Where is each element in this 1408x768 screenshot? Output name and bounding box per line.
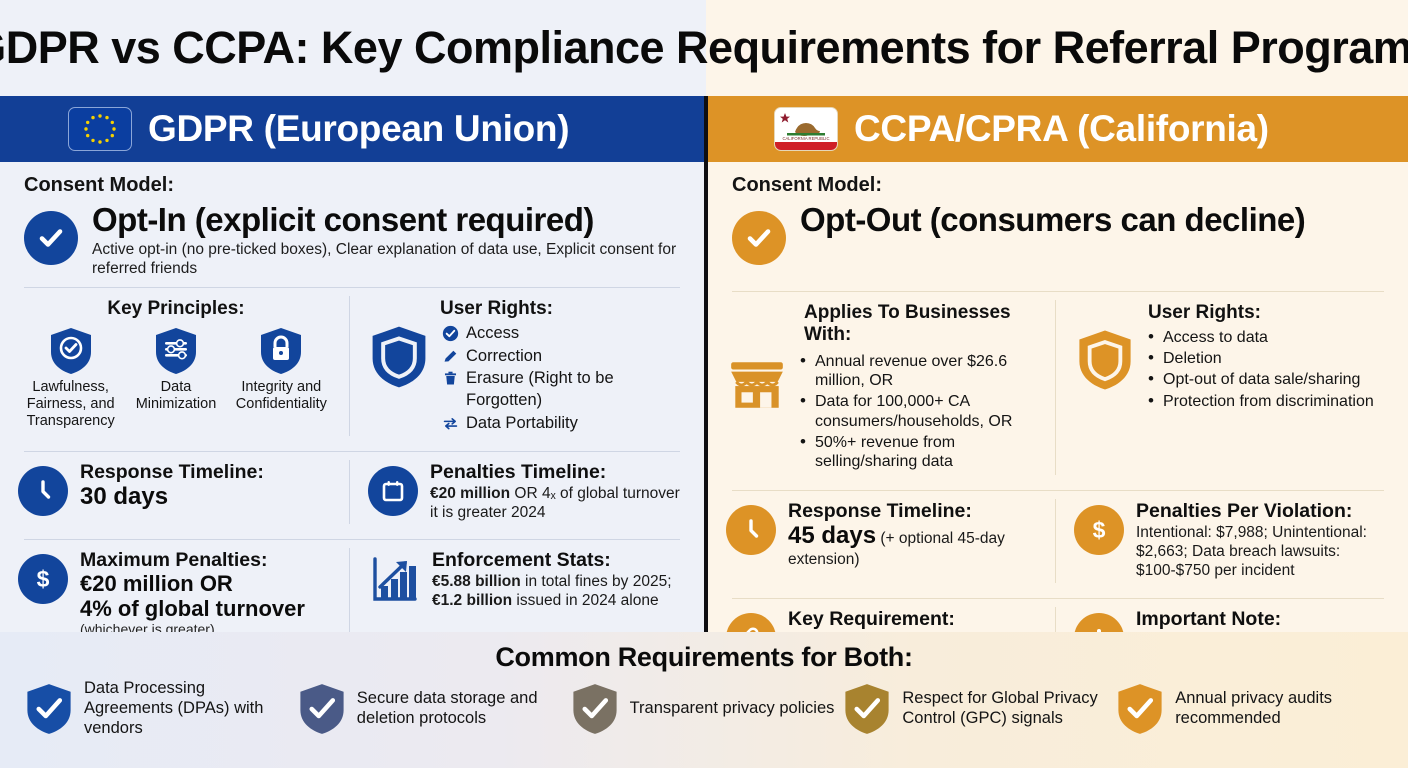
shield-check-icon — [570, 682, 620, 736]
ccpa-penalties-cell: $ Penalties Per Violation: Intentional: … — [1056, 491, 1408, 588]
common-requirement-item: Data Processing Agreements (DPAs) with v… — [24, 679, 293, 738]
gdpr-enforcement-body: €5.88 billion in total fines by 2025; €1… — [432, 572, 684, 610]
gdpr-enforcement-title: Enforcement Stats: — [432, 550, 684, 572]
swap-arrows-icon — [442, 415, 459, 432]
gdpr-max-penalties-line1: €20 million OR — [80, 572, 334, 597]
check-circle-icon — [24, 211, 78, 265]
clock-icon — [726, 505, 776, 555]
ccpa-timeline-row: Response Timeline: 45 days (+ optional 4… — [708, 491, 1408, 588]
shield-check-icon — [24, 682, 74, 736]
fine-total: €5.88 billion — [432, 573, 521, 590]
shield-data-icon — [153, 326, 199, 376]
calendar-icon — [368, 466, 418, 516]
right-label: Erasure (Right to be Forgotten) — [466, 367, 684, 412]
penalty-amount: €20 million — [430, 485, 510, 502]
shield-check-icon — [48, 326, 94, 376]
principle-item: Integrity and Confidentiality — [229, 326, 334, 429]
shield-check-icon — [297, 682, 347, 736]
list-item: 50%+ revenue from selling/sharing data — [800, 433, 1040, 471]
list-item: Access — [442, 322, 684, 344]
shield-check-icon — [1115, 682, 1165, 736]
gdpr-key-principles-cell: Key Principles: Lawfulness, Fairness, an… — [0, 288, 350, 441]
common-requirement-item: Secure data storage and deletion protoco… — [297, 679, 566, 738]
ccpa-key-requirement-title: Key Requirement: — [788, 609, 1040, 631]
list-item: Data for 100,000+ CA consumers/household… — [800, 392, 1040, 430]
list-item: Opt-out of data sale/sharing — [1148, 370, 1374, 389]
ccpa-applies-list: Annual revenue over $26.6 million, OR Da… — [800, 352, 1040, 473]
list-item: Deletion — [1148, 349, 1374, 368]
check-circle-icon — [732, 211, 786, 265]
gdpr-principles-heading: Key Principles: — [18, 298, 334, 320]
ccpa-response-value: 45 days — [788, 522, 876, 549]
gdpr-consent-block: Consent Model: Opt-In (explicit consent … — [0, 162, 704, 278]
california-flag-icon: CALIFORNIA REPUBLIC — [774, 107, 838, 151]
gdpr-max-penalties-line2: 4% of global turnover — [80, 597, 334, 622]
list-item: Data Portability — [442, 412, 684, 434]
ccpa-consent-value: Opt-Out (consumers can decline) — [800, 203, 1305, 238]
gdpr-penalties-timeline-body: €20 million OR 4ₓ of global turnover it … — [430, 484, 684, 522]
ccpa-panel: Consent Model: Opt-Out (consumers can de… — [708, 162, 1408, 632]
eu-flag-icon — [68, 107, 132, 151]
fine-2024: €1.2 billion — [432, 592, 512, 609]
common-requirement-label: Respect for Global Privacy Control (GPC)… — [902, 689, 1111, 729]
gdpr-response-timeline-cell: Response Timeline: 30 days — [0, 452, 350, 530]
gdpr-max-penalties-cell: $ Maximum Penalties: €20 million OR 4% o… — [0, 540, 350, 646]
ccpa-penalties-title: Penalties Per Violation: — [1136, 501, 1392, 523]
ccpa-consent-block: Consent Model: Opt-Out (consumers can de… — [708, 162, 1408, 265]
dollar-circle-icon: $ — [1074, 505, 1124, 555]
common-requirement-item: Respect for Global Privacy Control (GPC)… — [842, 679, 1111, 738]
enforcement-mid: in total fines by 2025; — [521, 573, 672, 590]
common-requirement-label: Annual privacy audits recommended — [1175, 689, 1384, 729]
gdpr-rights-list: Access Correction Erasure (Right to be F… — [442, 322, 684, 433]
principle-label: Data Minimization — [123, 379, 228, 413]
svg-text:$: $ — [1093, 517, 1106, 543]
gdpr-enforcement-cell: Enforcement Stats: €5.88 billion in tota… — [350, 540, 700, 646]
gdpr-rights-heading: User Rights: — [368, 298, 684, 320]
principle-label: Integrity and Confidentiality — [229, 379, 334, 413]
check-circle-icon — [442, 325, 459, 342]
gdpr-penalties-timeline-title: Penalties Timeline: — [430, 462, 684, 484]
gdpr-timeline-row: Response Timeline: 30 days Penalties Tim… — [0, 452, 704, 530]
ccpa-penalties-body: Intentional: $7,988; Unintentional: $2,6… — [1136, 523, 1392, 581]
common-requirement-label: Secure data storage and deletion protoco… — [357, 689, 566, 729]
gdpr-header-label: GDPR (European Union) — [148, 108, 569, 150]
gdpr-principles-rights-row: Key Principles: Lawfulness, Fairness, an… — [0, 288, 704, 441]
pencil-icon — [442, 348, 459, 365]
common-requirement-label: Data Processing Agreements (DPAs) with v… — [84, 679, 293, 738]
page-title: GDPR vs CCPA: Key Compliance Requirement… — [0, 22, 1408, 74]
gdpr-penalties-timeline-cell: Penalties Timeline: €20 million OR 4ₓ of… — [350, 452, 700, 530]
common-requirements-section: Common Requirements for Both: Data Proce… — [0, 632, 1408, 768]
ccpa-header-label: CCPA/CPRA (California) — [854, 108, 1269, 150]
principle-label: Lawfulness, Fairness, and Transparency — [18, 379, 123, 429]
common-requirements-heading: Common Requirements for Both: — [0, 632, 1408, 673]
right-label: Data Portability — [466, 412, 578, 434]
ccpa-response-cell: Response Timeline: 45 days (+ optional 4… — [708, 491, 1056, 588]
shield-lock-icon — [258, 326, 304, 376]
shield-icon — [1074, 328, 1136, 392]
ccpa-response-value-row: 45 days (+ optional 45-day extension) — [788, 523, 1040, 569]
bar-chart-up-icon — [368, 554, 420, 606]
ccpa-response-title: Response Timeline: — [788, 501, 1040, 523]
common-requirement-item: Transparent privacy policies — [570, 679, 839, 738]
ccpa-rights-list: Access to data Deletion Opt-out of data … — [1148, 328, 1374, 413]
gdpr-panel: Consent Model: Opt-In (explicit consent … — [0, 162, 704, 632]
ccpa-applies-cell: Applies To Businesses With: Annual reven… — [708, 292, 1056, 481]
principle-item: Lawfulness, Fairness, and Transparency — [18, 326, 123, 429]
list-item: Access to data — [1148, 328, 1374, 347]
gdpr-response-title: Response Timeline: — [80, 462, 334, 484]
ccpa-applies-heading: Applies To Businesses With: — [726, 302, 1040, 346]
common-requirement-item: Annual privacy audits recommended — [1115, 679, 1384, 738]
infographic-title-bar: GDPR vs CCPA: Key Compliance Requirement… — [0, 0, 1408, 96]
svg-text:$: $ — [37, 566, 50, 592]
right-label: Correction — [466, 345, 542, 367]
gdpr-consent-value: Opt-In (explicit consent required) — [92, 203, 680, 238]
list-item: Erasure (Right to be Forgotten) — [442, 367, 684, 412]
clock-icon — [18, 466, 68, 516]
storefront-icon — [726, 354, 788, 414]
list-item: Annual revenue over $26.6 million, OR — [800, 352, 1040, 390]
gdpr-response-value: 30 days — [80, 484, 334, 511]
ccpa-user-rights-cell: User Rights: Access to data Deletion Opt… — [1056, 292, 1408, 481]
enforcement-rest: issued in 2024 alone — [512, 592, 659, 609]
gdpr-penalties-row: $ Maximum Penalties: €20 million OR 4% o… — [0, 540, 704, 646]
gdpr-max-penalties-title: Maximum Penalties: — [80, 550, 334, 572]
right-label: Access — [466, 322, 519, 344]
ccpa-column-header: CALIFORNIA REPUBLIC CCPA/CPRA (Californi… — [706, 96, 1408, 162]
common-requirement-label: Transparent privacy policies — [630, 699, 835, 719]
trash-icon — [442, 370, 459, 387]
shield-check-icon — [842, 682, 892, 736]
center-divider — [704, 96, 708, 632]
gdpr-consent-detail: Active opt-in (no pre-ticked boxes), Cle… — [92, 241, 680, 279]
ccpa-applies-rights-row: Applies To Businesses With: Annual reven… — [708, 292, 1408, 481]
svg-text:CALIFORNIA REPUBLIC: CALIFORNIA REPUBLIC — [782, 136, 829, 141]
principle-item: Data Minimization — [123, 326, 228, 429]
dollar-circle-icon: $ — [18, 554, 68, 604]
shield-icon — [368, 324, 430, 390]
list-item: Protection from discrimination — [1148, 392, 1374, 411]
list-item: Correction — [442, 345, 684, 367]
gdpr-consent-label: Consent Model: — [24, 174, 680, 197]
gdpr-user-rights-cell: User Rights: Access Correction — [350, 288, 700, 441]
ccpa-consent-label: Consent Model: — [732, 174, 1384, 197]
ccpa-important-note-title: Important Note: — [1136, 609, 1392, 631]
gdpr-column-header: GDPR (European Union) — [0, 96, 706, 162]
ccpa-rights-heading: User Rights: — [1074, 302, 1392, 324]
